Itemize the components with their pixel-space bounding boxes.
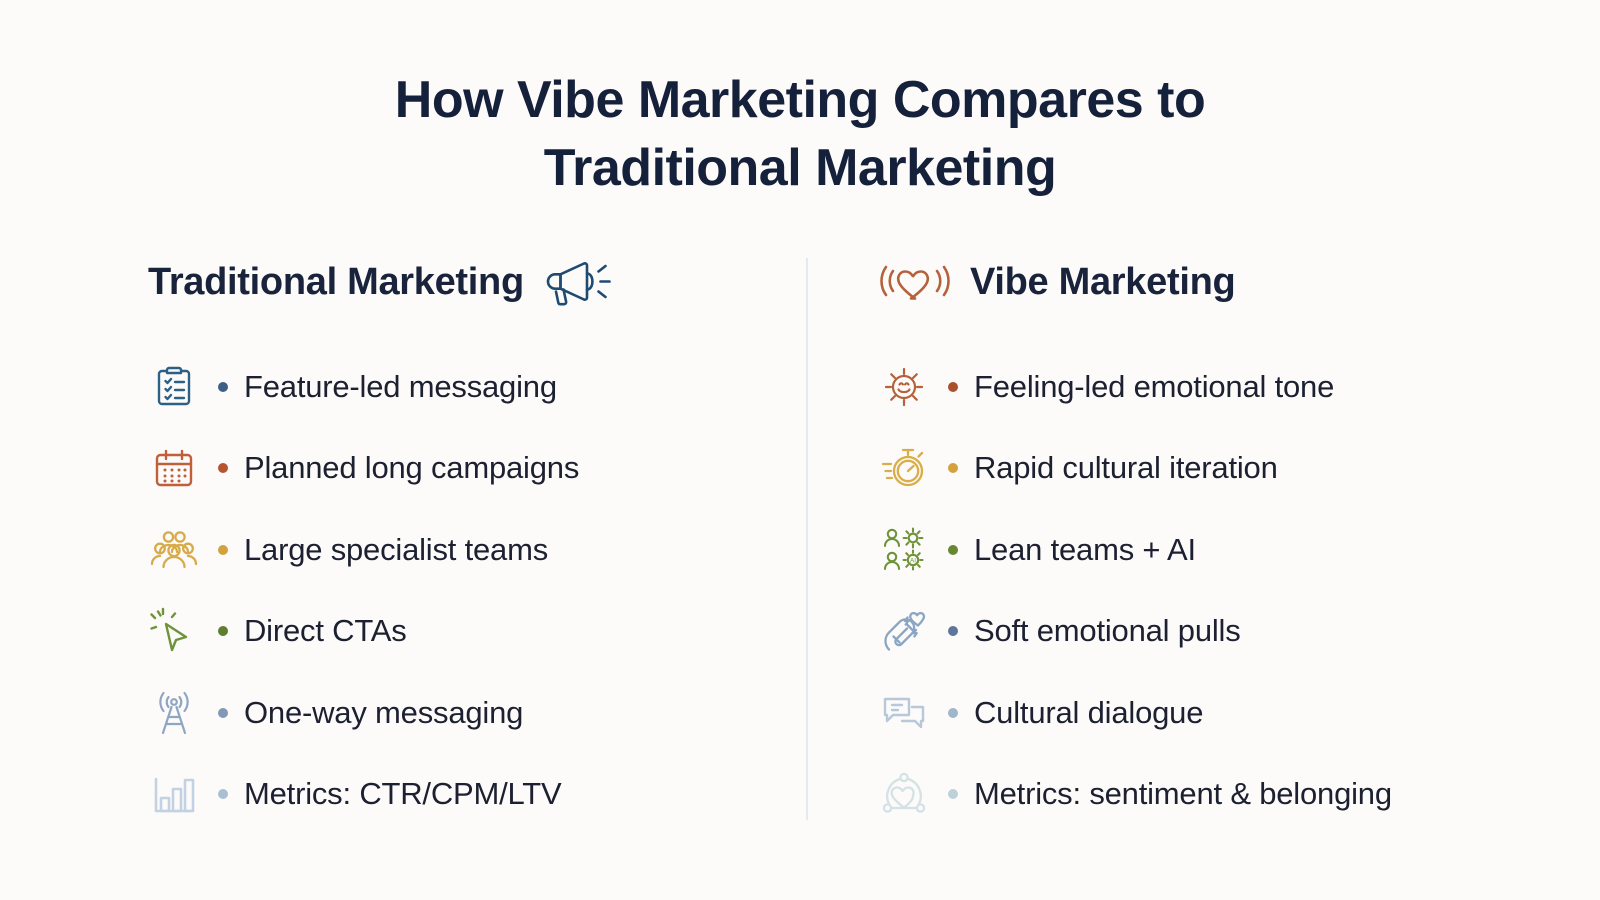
column-divider (806, 258, 808, 820)
list-item[interactable]: Feeling-led emotional tone (878, 346, 1538, 428)
column-header-traditional: Traditional Marketing (148, 250, 768, 314)
clipboard-checklist-icon (148, 361, 200, 413)
list-item-label: Direct CTAs (244, 613, 407, 649)
bullet-dot (948, 789, 958, 799)
people-gears-ai-icon: AI (878, 524, 930, 576)
list-item[interactable]: Metrics: sentiment & belonging (878, 754, 1538, 836)
list-item[interactable]: Metrics: CTR/CPM/LTV (148, 754, 768, 836)
heart-waves-icon (878, 258, 952, 306)
bullet-dot (218, 382, 228, 392)
list-traditional: Feature-led messaging (148, 346, 768, 835)
list-item-label: One-way messaging (244, 695, 523, 731)
list-item-label: Feeling-led emotional tone (974, 369, 1334, 405)
list-item-label: Soft emotional pulls (974, 613, 1241, 649)
column-title-vibe: Vibe Marketing (970, 261, 1235, 304)
bullet-dot (218, 789, 228, 799)
list-item[interactable]: Soft emotional pulls (878, 591, 1538, 673)
people-group-icon (148, 524, 200, 576)
list-item-label: Large specialist teams (244, 532, 548, 568)
list-item[interactable]: Cultural dialogue (878, 672, 1538, 754)
bullet-dot (218, 545, 228, 555)
list-item[interactable]: One-way messaging (148, 672, 768, 754)
smiling-sun-icon (878, 361, 930, 413)
bullet-dot (218, 463, 228, 473)
list-item-label: Rapid cultural iteration (974, 450, 1278, 486)
page-title: How Vibe Marketing Compares to Tradition… (0, 66, 1600, 202)
column-vibe-marketing: Vibe Marketing Feeling-led emotional ton… (878, 250, 1538, 835)
bullet-dot (218, 708, 228, 718)
stopwatch-speed-icon (878, 442, 930, 494)
page-title-line-2: Traditional Marketing (0, 134, 1600, 202)
list-item[interactable]: Planned long campaigns (148, 428, 768, 510)
infographic-page: How Vibe Marketing Compares to Tradition… (0, 0, 1600, 900)
list-item-label: Lean teams + AI (974, 532, 1196, 568)
page-title-line-1: How Vibe Marketing Compares to (0, 66, 1600, 134)
list-item-label: Cultural dialogue (974, 695, 1203, 731)
bullet-dot (948, 545, 958, 555)
list-item[interactable]: Direct CTAs (148, 591, 768, 673)
megaphone-icon (540, 253, 612, 311)
list-item-label: Metrics: sentiment & belonging (974, 776, 1392, 812)
bullet-dot (948, 708, 958, 718)
column-header-vibe: Vibe Marketing (878, 250, 1538, 314)
cursor-click-icon (148, 605, 200, 657)
list-item-label: Feature-led messaging (244, 369, 557, 405)
list-item[interactable]: Rapid cultural iteration (878, 428, 1538, 510)
list-item[interactable]: Large specialist teams (148, 509, 768, 591)
bullet-dot (948, 382, 958, 392)
bullet-dot (948, 626, 958, 636)
list-item[interactable]: Feature-led messaging (148, 346, 768, 428)
bullet-dot (218, 626, 228, 636)
list-item[interactable]: AI Lean teams + AI (878, 509, 1538, 591)
chat-bubbles-icon (878, 687, 930, 739)
list-vibe: Feeling-led emotional tone Rapid cultura… (878, 346, 1538, 835)
broadcast-tower-icon (148, 687, 200, 739)
heart-network-icon (878, 768, 930, 820)
list-item-label: Metrics: CTR/CPM/LTV (244, 776, 562, 812)
list-item-label: Planned long campaigns (244, 450, 579, 486)
magnet-heart-icon (878, 605, 930, 657)
svg-text:AI: AI (910, 557, 916, 564)
calendar-icon (148, 442, 200, 494)
bullet-dot (948, 463, 958, 473)
bar-chart-icon (148, 768, 200, 820)
column-traditional-marketing: Traditional Marketing (148, 250, 768, 835)
column-title-traditional: Traditional Marketing (148, 261, 524, 304)
